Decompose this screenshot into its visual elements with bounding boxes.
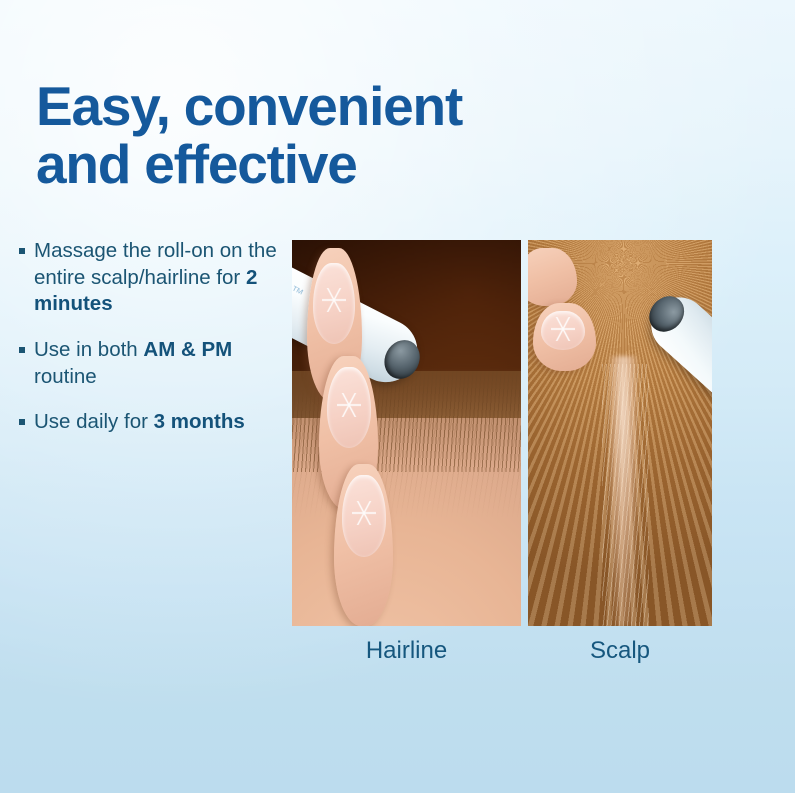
list-item-text: Use in both AM & PM routine: [34, 337, 287, 390]
page-title-line-2: and effective: [36, 136, 556, 194]
hand-fingers: [292, 240, 397, 626]
page-title-line-1: Easy, convenient: [36, 78, 556, 136]
plain-text: Massage the roll-on on the entire scalp/…: [34, 239, 277, 289]
nail-art-sparkle-icon: [551, 317, 575, 341]
fingernail: [342, 475, 386, 556]
caption-scalp: Scalp: [528, 637, 712, 665]
bullet-square-icon: [19, 248, 25, 254]
photo-scalp: [528, 240, 712, 626]
emphasis-text: AM & PM: [143, 338, 232, 361]
instruction-list: Massage the roll-on on the entire scalp/…: [19, 238, 287, 436]
nail-art-sparkle-icon: [322, 288, 346, 312]
nail-art-sparkle-icon: [337, 393, 361, 417]
list-item: Massage the roll-on on the entire scalp/…: [19, 238, 287, 318]
scalp-parting-hairs: [602, 364, 650, 626]
finger: [528, 248, 577, 306]
plain-text: Use daily for: [34, 410, 154, 433]
photo-pair: rise™: [292, 240, 712, 626]
nail-art-sparkle-icon: [352, 501, 376, 525]
list-item-text: Massage the roll-on on the entire scalp/…: [34, 238, 287, 318]
list-item: Use in both AM & PM routine: [19, 337, 287, 390]
list-item-text: Use daily for 3 months: [34, 409, 287, 436]
bullet-square-icon: [19, 347, 25, 353]
fingernail: [541, 311, 585, 350]
plain-text: Use in both: [34, 338, 143, 361]
emphasis-text: 3 months: [154, 410, 245, 433]
photo-hairline: rise™: [292, 240, 521, 626]
fingernail: [327, 367, 371, 448]
bullet-square-icon: [19, 419, 25, 425]
caption-hairline: Hairline: [292, 637, 521, 665]
page-title: Easy, convenient and effective: [36, 78, 556, 194]
plain-text: routine: [34, 365, 97, 388]
list-item: Use daily for 3 months: [19, 409, 287, 436]
promo-slide: Easy, convenient and effective Massage t…: [0, 0, 795, 793]
fingernail: [313, 263, 355, 344]
hand-fingers: [528, 240, 609, 371]
